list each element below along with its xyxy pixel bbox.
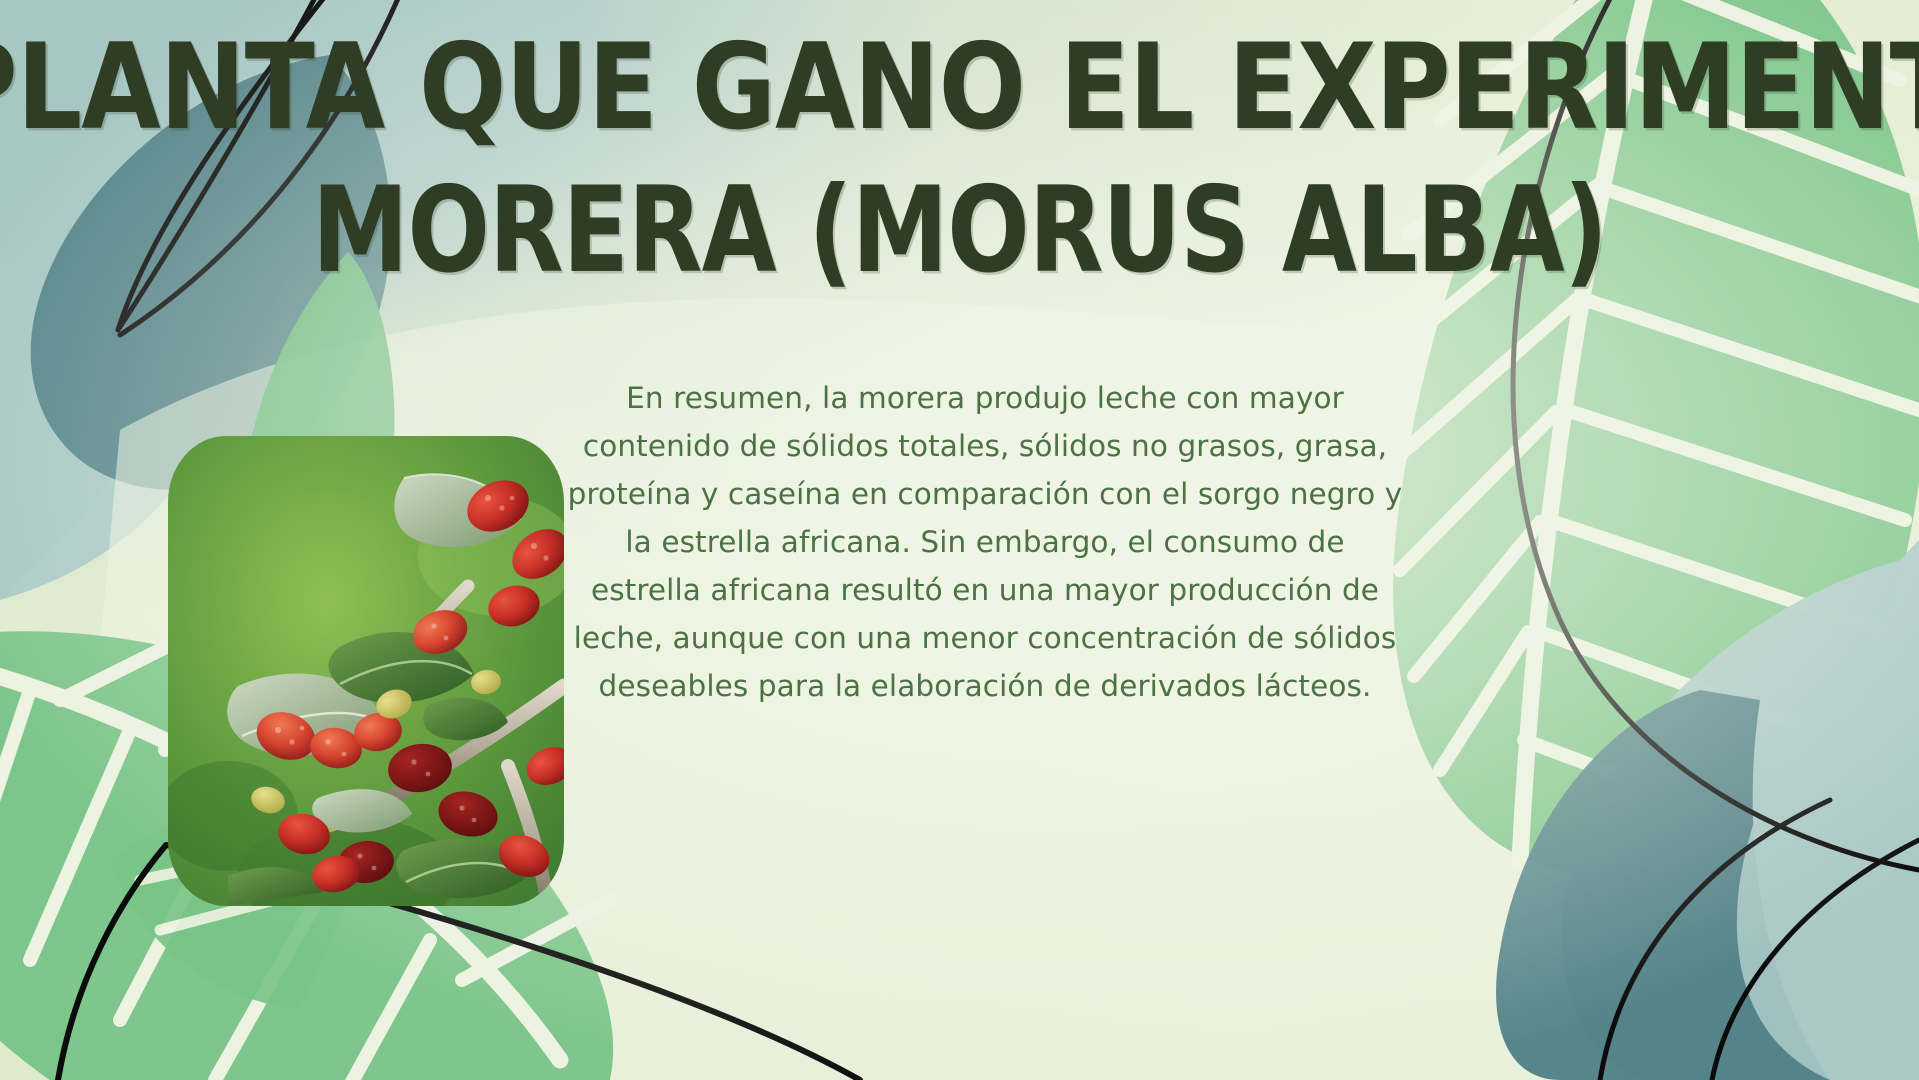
page-title-line-2: MORERA (MORUS ALBA) [0, 171, 1919, 289]
body-paragraph-text: En resumen, la morera produjo leche con … [566, 374, 1404, 710]
page-title-line-1: PLANTA QUE GANO EL EXPERIMENTO [0, 28, 1919, 146]
mulberry-photo-illustration [168, 436, 564, 906]
title-block: PLANTA QUE GANO EL EXPERIMENTO MORERA (M… [0, 28, 1919, 268]
slide-canvas: PLANTA QUE GANO EL EXPERIMENTO MORERA (M… [0, 0, 1919, 1080]
body-paragraph: En resumen, la morera produjo leche con … [566, 374, 1404, 710]
mulberry-photo [168, 436, 564, 906]
